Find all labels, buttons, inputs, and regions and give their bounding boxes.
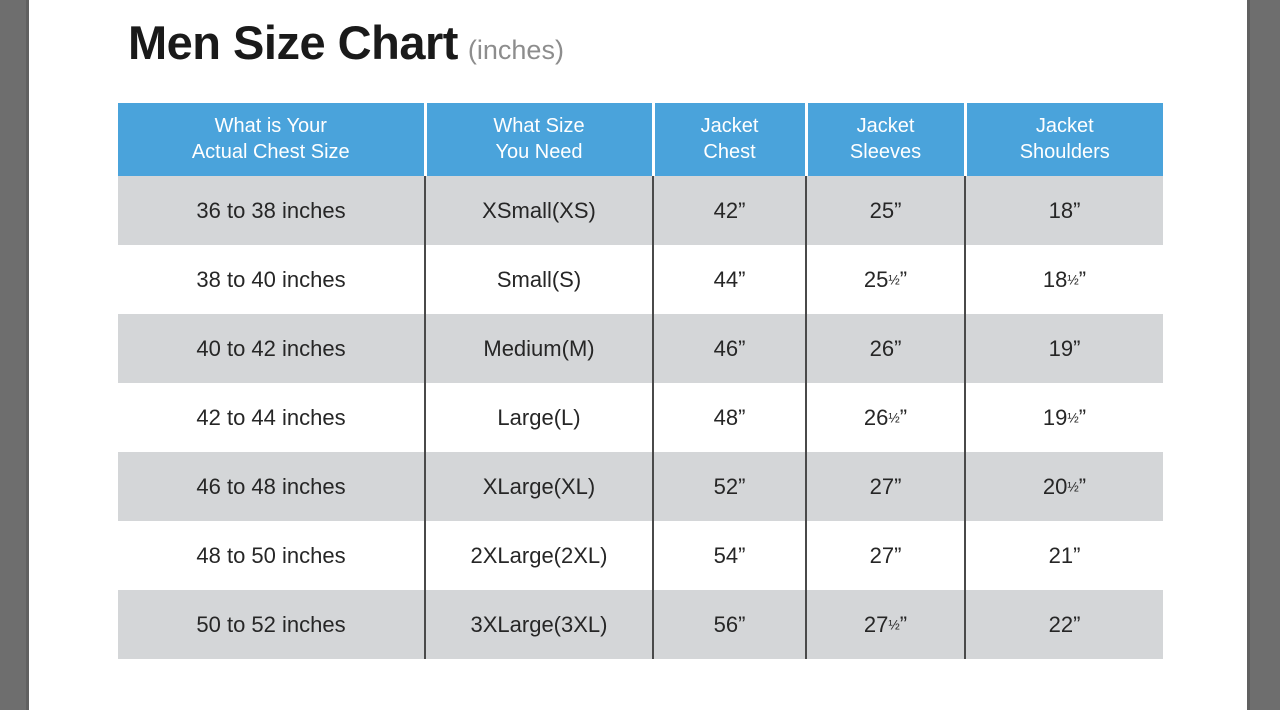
cell-size-you-need: XSmall(XS) [425, 176, 653, 245]
cell-jacket-shoulders: 19” [965, 314, 1163, 383]
column-header-line2: Chest [659, 140, 801, 166]
cell-size-you-need: Large(L) [425, 383, 653, 452]
half-fraction-glyph: ½ [888, 617, 899, 632]
cell-jacket-chest: 56” [653, 590, 806, 659]
cell-jacket-chest: 46” [653, 314, 806, 383]
column-header-line1: Jacket [1036, 115, 1094, 137]
column-header-line1: Jacket [701, 115, 759, 137]
cell-jacket-sleeves: 27” [806, 452, 965, 521]
page-title: Men Size Chart (inches) [128, 19, 564, 66]
cell-jacket-chest: 48” [653, 383, 806, 452]
cell-jacket-sleeves: 26½” [806, 383, 965, 452]
half-fraction-glyph: ½ [1067, 410, 1078, 425]
half-fraction-glyph: ½ [1067, 272, 1078, 287]
cell-chest-range: 38 to 40 inches [118, 245, 425, 314]
column-header-actual-chest-size: What is Your Actual Chest Size [118, 103, 425, 176]
cell-jacket-chest: 42” [653, 176, 806, 245]
cell-jacket-sleeves: 26” [806, 314, 965, 383]
cell-jacket-shoulders: 20½” [965, 452, 1163, 521]
page-title-main: Men Size Chart [128, 19, 458, 66]
letterbox-bar-left [0, 0, 29, 710]
cell-jacket-shoulders: 18½” [965, 245, 1163, 314]
cell-size-you-need: 3XLarge(3XL) [425, 590, 653, 659]
column-header-size-you-need: What Size You Need [425, 103, 653, 176]
cell-jacket-shoulders: 21” [965, 521, 1163, 590]
cell-jacket-sleeves: 27½” [806, 590, 965, 659]
cell-jacket-sleeves: 25” [806, 176, 965, 245]
column-header-jacket-shoulders: Jacket Shoulders [965, 103, 1163, 176]
table-body: 36 to 38 inchesXSmall(XS)42”25”18”38 to … [118, 176, 1163, 659]
column-header-line1: What is Your [215, 115, 327, 137]
table-row: 40 to 42 inchesMedium(M)46”26”19” [118, 314, 1163, 383]
table-header-row: What is Your Actual Chest Size What Size… [118, 103, 1163, 176]
cell-size-you-need: 2XLarge(2XL) [425, 521, 653, 590]
table-row: 38 to 40 inchesSmall(S)44”25½”18½” [118, 245, 1163, 314]
cell-chest-range: 40 to 42 inches [118, 314, 425, 383]
half-fraction-glyph: ½ [888, 272, 899, 287]
cell-jacket-chest: 54” [653, 521, 806, 590]
cell-jacket-chest: 44” [653, 245, 806, 314]
cell-size-you-need: XLarge(XL) [425, 452, 653, 521]
cell-chest-range: 50 to 52 inches [118, 590, 425, 659]
cell-chest-range: 42 to 44 inches [118, 383, 425, 452]
cell-jacket-sleeves: 25½” [806, 245, 965, 314]
cell-jacket-sleeves: 27” [806, 521, 965, 590]
slide-surface: Men Size Chart (inches) What is Your Act… [29, 0, 1247, 710]
table-row: 48 to 50 inches2XLarge(2XL)54”27”21” [118, 521, 1163, 590]
column-header-line1: What Size [493, 115, 584, 137]
half-fraction-glyph: ½ [1067, 479, 1078, 494]
cell-size-you-need: Medium(M) [425, 314, 653, 383]
page-title-unit: (inches) [468, 37, 564, 64]
cell-chest-range: 48 to 50 inches [118, 521, 425, 590]
table-row: 42 to 44 inchesLarge(L)48”26½”19½” [118, 383, 1163, 452]
cell-jacket-shoulders: 22” [965, 590, 1163, 659]
column-header-line2: Sleeves [812, 140, 960, 166]
table-row: 50 to 52 inches3XLarge(3XL)56”27½”22” [118, 590, 1163, 659]
column-header-jacket-chest: Jacket Chest [653, 103, 806, 176]
cell-chest-range: 46 to 48 inches [118, 452, 425, 521]
column-header-line2: Actual Chest Size [122, 140, 420, 166]
column-header-jacket-sleeves: Jacket Sleeves [806, 103, 965, 176]
cell-jacket-shoulders: 19½” [965, 383, 1163, 452]
table-row: 36 to 38 inchesXSmall(XS)42”25”18” [118, 176, 1163, 245]
size-chart-table: What is Your Actual Chest Size What Size… [118, 103, 1163, 659]
cell-jacket-shoulders: 18” [965, 176, 1163, 245]
column-header-line2: You Need [431, 140, 648, 166]
column-header-line2: Shoulders [971, 140, 1160, 166]
column-header-line1: Jacket [857, 115, 915, 137]
cell-jacket-chest: 52” [653, 452, 806, 521]
cell-chest-range: 36 to 38 inches [118, 176, 425, 245]
cell-size-you-need: Small(S) [425, 245, 653, 314]
half-fraction-glyph: ½ [888, 410, 899, 425]
letterbox-bar-right [1247, 0, 1280, 710]
table-row: 46 to 48 inchesXLarge(XL)52”27”20½” [118, 452, 1163, 521]
